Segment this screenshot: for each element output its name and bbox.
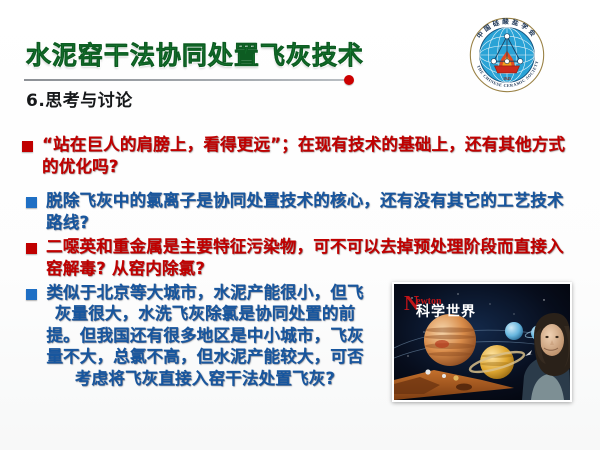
magazine-chinese-title: 科学世界: [416, 303, 476, 320]
list-item: 二噁英和重金属是主要特征污染物，可不可以去掉预处理阶段而直接入窑解毒? 从窑内除…: [26, 236, 578, 280]
slide-canvas: 水泥窑干法协同处置飞灰技术 6.思考与讨论: [0, 0, 600, 450]
title-divider: [24, 79, 348, 81]
list-item-text: 类似于北京等大城市，水泥产能很小，但飞灰量很大，水洗飞灰除氯是协同处置的前提。但…: [46, 282, 364, 389]
bullet-square-icon: [22, 141, 33, 152]
chinese-ceramic-society-logo-icon: 1945 中国硅酸盐学会 THE CHINESE CERAMIC SOCIETY: [468, 16, 546, 94]
bullet-square-icon: [26, 197, 37, 208]
bullet-square-icon: [26, 289, 37, 300]
list-item: 类似于北京等大城市，水泥产能很小，但飞灰量很大，水洗飞灰除氯是协同处置的前提。但…: [26, 282, 364, 389]
page-title: 水泥窑干法协同处置飞灰技术: [26, 43, 364, 68]
list-item: “站在巨人的肩膀上，看得更远”；在现有技术的基础上，还有其他方式的优化吗?: [22, 134, 578, 178]
list-item-text: 二噁英和重金属是主要特征污染物，可不可以去掉预处理阶段而直接入窑解毒? 从窑内除…: [46, 236, 578, 280]
newton-science-world-image: N ewton 科学世界: [392, 282, 572, 402]
list-item-text: 脱除飞灰中的氯离子是协同处置技术的核心，还有没有其它的工艺技术路线?: [46, 190, 578, 234]
svg-text:1945: 1945: [503, 77, 511, 81]
bullet-square-icon: [26, 243, 37, 254]
section-heading: 6.思考与讨论: [26, 86, 133, 111]
list-item: 脱除飞灰中的氯离子是协同处置技术的核心，还有没有其它的工艺技术路线?: [26, 190, 578, 234]
title-accent-dot-icon: [344, 75, 354, 85]
list-item-text: “站在巨人的肩膀上，看得更远”；在现有技术的基础上，还有其他方式的优化吗?: [42, 134, 578, 178]
